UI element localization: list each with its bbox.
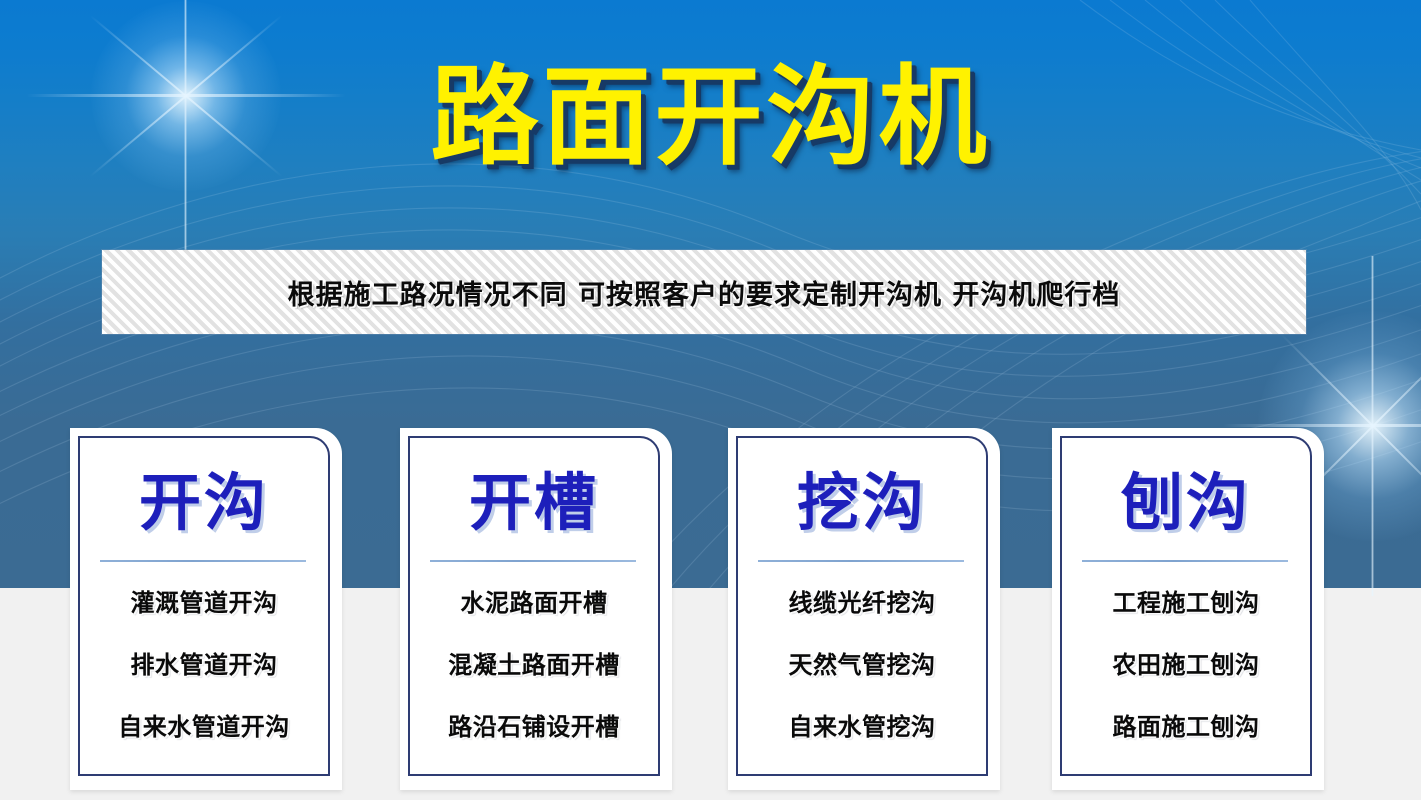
card-heading: 开沟 xyxy=(80,468,328,538)
card-item-list: 线缆光纤挖沟 天然气管挖沟 自来水管挖沟 xyxy=(744,588,980,774)
card-item-list: 工程施工刨沟 农田施工刨沟 路面施工刨沟 xyxy=(1068,588,1304,774)
feature-card-kaigou[interactable]: 开沟 灌溉管道开沟 排水管道开沟 自来水管道开沟 xyxy=(70,428,342,790)
card-divider xyxy=(430,560,636,562)
list-item: 灌溉管道开沟 xyxy=(86,588,322,618)
list-item: 混凝土路面开槽 xyxy=(416,650,652,680)
list-item: 工程施工刨沟 xyxy=(1068,588,1304,618)
card-item-list: 水泥路面开槽 混凝土路面开槽 路沿石铺设开槽 xyxy=(416,588,652,774)
card-divider xyxy=(100,560,306,562)
list-item: 路沿石铺设开槽 xyxy=(416,712,652,742)
card-divider xyxy=(1082,560,1288,562)
feature-card-kaicao[interactable]: 开槽 水泥路面开槽 混凝土路面开槽 路沿石铺设开槽 xyxy=(400,428,672,790)
list-item: 排水管道开沟 xyxy=(86,650,322,680)
card-inner-frame: 开沟 灌溉管道开沟 排水管道开沟 自来水管道开沟 xyxy=(78,436,330,776)
card-inner-frame: 开槽 水泥路面开槽 混凝土路面开槽 路沿石铺设开槽 xyxy=(408,436,660,776)
list-item: 自来水管挖沟 xyxy=(744,712,980,742)
card-heading: 开槽 xyxy=(410,468,658,538)
list-item: 天然气管挖沟 xyxy=(744,650,980,680)
subtitle-text: 根据施工路况情况不同 可按照客户的要求定制开沟机 开沟机爬行档 xyxy=(288,273,1121,312)
subtitle-banner: 根据施工路况情况不同 可按照客户的要求定制开沟机 开沟机爬行档 xyxy=(102,250,1306,334)
card-heading: 刨沟 xyxy=(1062,468,1310,538)
card-heading: 挖沟 xyxy=(738,468,986,538)
card-item-list: 灌溉管道开沟 排水管道开沟 自来水管道开沟 xyxy=(86,588,322,774)
card-inner-frame: 挖沟 线缆光纤挖沟 天然气管挖沟 自来水管挖沟 xyxy=(736,436,988,776)
page-title: 路面开沟机 xyxy=(0,58,1421,176)
list-item: 自来水管道开沟 xyxy=(86,712,322,742)
list-item: 水泥路面开槽 xyxy=(416,588,652,618)
feature-card-paogou[interactable]: 刨沟 工程施工刨沟 农田施工刨沟 路面施工刨沟 xyxy=(1052,428,1324,790)
card-divider xyxy=(758,560,964,562)
feature-card-wagou[interactable]: 挖沟 线缆光纤挖沟 天然气管挖沟 自来水管挖沟 xyxy=(728,428,1000,790)
list-item: 农田施工刨沟 xyxy=(1068,650,1304,680)
list-item: 线缆光纤挖沟 xyxy=(744,588,980,618)
list-item: 路面施工刨沟 xyxy=(1068,712,1304,742)
card-inner-frame: 刨沟 工程施工刨沟 农田施工刨沟 路面施工刨沟 xyxy=(1060,436,1312,776)
poster-stage: 路面开沟机 根据施工路况情况不同 可按照客户的要求定制开沟机 开沟机爬行档 开沟… xyxy=(0,0,1421,800)
